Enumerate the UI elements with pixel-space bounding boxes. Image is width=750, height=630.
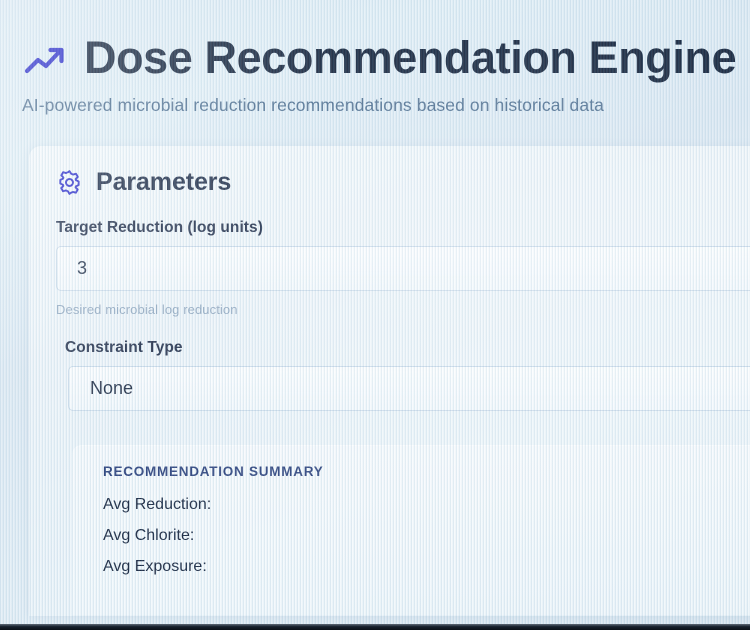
target-reduction-label: Target Reduction (log units) [56, 219, 750, 237]
page-subtitle: AI-powered microbial reduction recommend… [22, 95, 750, 116]
summary-row: Avg Exposure: [103, 558, 750, 576]
title-row: Dose Recommendation Engine [22, 34, 750, 81]
field-target-reduction: Target Reduction (log units) 3 Desired m… [29, 219, 750, 317]
target-reduction-value: 3 [57, 258, 87, 279]
recommendation-summary-title: RECOMMENDATION SUMMARY [103, 464, 750, 479]
constraint-type-label: Constraint Type [56, 339, 750, 357]
parameters-card-header: Parameters [29, 168, 750, 197]
avg-reduction-label: Avg Reduction: [103, 496, 211, 514]
constraint-type-select[interactable]: None [68, 366, 750, 411]
target-reduction-help: Desired microbial log reduction [56, 302, 750, 317]
summary-row: Avg Chlorite: [103, 527, 750, 545]
trending-up-icon [22, 40, 68, 80]
avg-chlorite-label: Avg Chlorite: [103, 527, 194, 545]
recommendation-summary-panel: RECOMMENDATION SUMMARY Avg Reduction: Av… [72, 445, 750, 615]
page-header: Dose Recommendation Engine AI-powered mi… [0, 0, 750, 116]
field-constraint-type: Constraint Type None [29, 339, 750, 411]
monitor-bezel [0, 624, 750, 630]
constraint-type-value: None [69, 378, 133, 399]
screen-capture: Dose Recommendation Engine AI-powered mi… [0, 0, 750, 630]
page-title: Dose Recommendation Engine [84, 34, 736, 81]
parameters-title: Parameters [96, 168, 231, 197]
target-reduction-input[interactable]: 3 [56, 246, 750, 291]
avg-exposure-label: Avg Exposure: [103, 558, 207, 576]
parameters-card: Parameters Target Reduction (log units) … [29, 146, 750, 616]
summary-row: Avg Reduction: [103, 496, 750, 514]
gear-icon [56, 169, 83, 196]
